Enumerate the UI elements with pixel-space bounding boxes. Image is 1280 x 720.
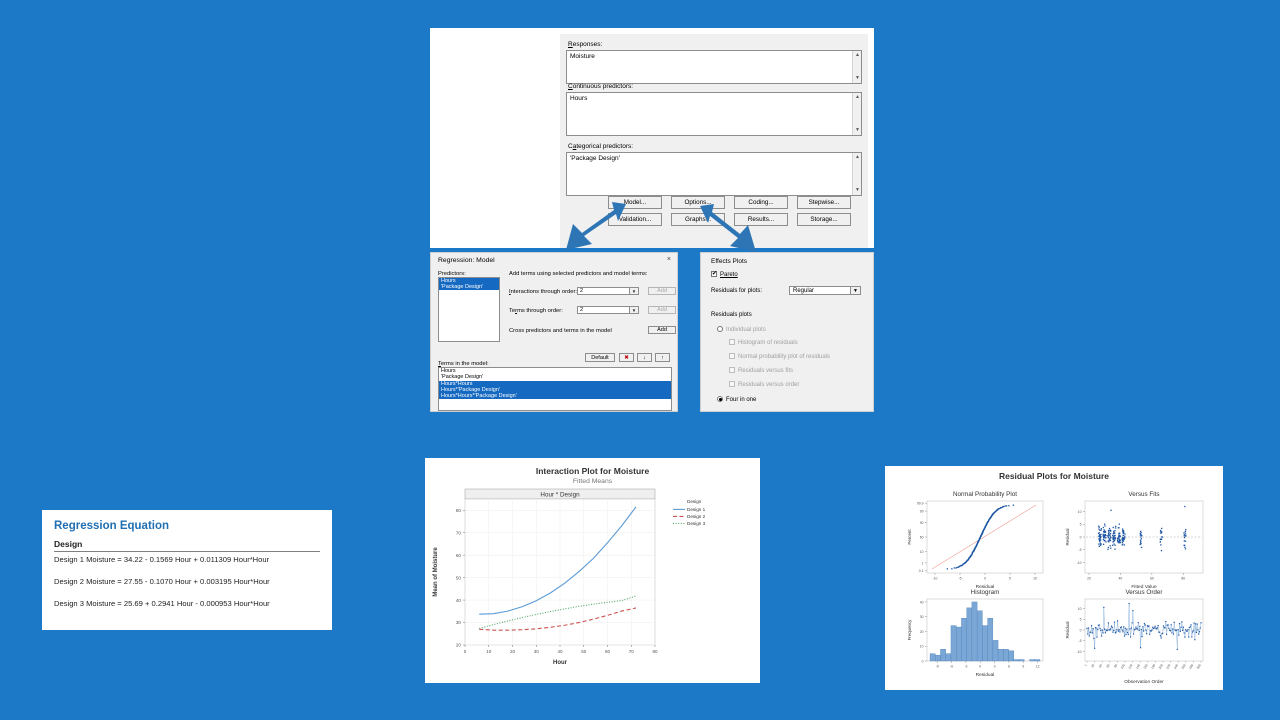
svg-text:Hour * Design: Hour * Design (540, 492, 580, 499)
validation-button[interactable]: Validation... (608, 213, 662, 226)
svg-text:0: 0 (979, 665, 981, 669)
svg-text:50: 50 (920, 535, 924, 539)
terms-order-select[interactable]: 2 ▼ (577, 306, 639, 314)
page-title: Regression Equation (54, 520, 320, 532)
chevron-down-icon[interactable]: ▼ (853, 74, 862, 83)
svg-text:0: 0 (1080, 628, 1082, 632)
effects-plots-title: Effects Plots (711, 258, 747, 265)
graphs-button[interactable]: Graphs... (671, 213, 725, 226)
svg-text:-10: -10 (1077, 561, 1082, 565)
svg-text:Mean of Moisture: Mean of Moisture (433, 547, 439, 597)
equation-design-3: Design 3 Moisture = 25.69 + 0.2941 Hour … (54, 599, 320, 608)
residual-plots-svg: Normal Probability PlotResidualPercent99… (885, 481, 1223, 686)
add-cross-button[interactable]: Add (648, 326, 676, 334)
radio-icon[interactable] (717, 396, 723, 402)
move-up-button[interactable]: ↑ (655, 353, 670, 362)
svg-text:40: 40 (1098, 663, 1103, 668)
regression-equation-card: Regression Equation Design Design 1 Mois… (42, 510, 332, 630)
svg-text:Design 3: Design 3 (687, 521, 706, 526)
svg-text:Design: Design (687, 499, 702, 504)
add-terms-button[interactable]: Add (648, 306, 676, 314)
svg-text:5: 5 (1080, 618, 1082, 622)
continuous-predictors-label: Continuous predictors: (568, 84, 862, 91)
responses-label: Responses: (568, 42, 862, 49)
categorical-predictors-label: Categorical predictors: (568, 144, 862, 151)
svg-text:5: 5 (1080, 523, 1082, 527)
svg-text:280: 280 (1188, 663, 1194, 670)
terms-in-model-listbox[interactable]: Hours 'Package Design' Hours*Hours Hours… (438, 367, 672, 411)
checkbox-icon[interactable] (729, 381, 735, 387)
svg-text:140: 140 (1135, 663, 1141, 670)
interaction-plot-card: Interaction Plot for Moisture Fitted Mea… (425, 458, 760, 683)
histogram-of-residuals-label: Histogram of residuals (738, 340, 798, 346)
results-button[interactable]: Results... (734, 213, 788, 226)
pareto-checkbox[interactable]: Pareto (711, 271, 738, 278)
interaction-plot-title: Interaction Plot for Moisture (425, 466, 760, 476)
svg-text:Observation Order: Observation Order (1124, 679, 1164, 685)
responses-value: Moisture (567, 51, 861, 63)
svg-text:-3: -3 (964, 665, 967, 669)
svg-text:0: 0 (984, 577, 986, 581)
residuals-for-plots-value: Regular (793, 288, 814, 294)
svg-text:10: 10 (920, 645, 924, 649)
residuals-plots-label: Residuals plots (711, 312, 752, 318)
svg-text:300: 300 (1196, 663, 1202, 670)
chevron-down-icon[interactable]: ▼ (853, 126, 862, 135)
chevron-down-icon[interactable]: ▼ (850, 287, 860, 294)
svg-text:40: 40 (557, 649, 563, 654)
svg-text:80: 80 (1181, 577, 1185, 581)
chevron-up-icon[interactable]: ▲ (853, 93, 862, 102)
residuals-versus-order-checkbox[interactable]: Residuals versus order (729, 381, 799, 388)
svg-text:240: 240 (1173, 663, 1179, 670)
individual-plots-radio[interactable]: Individual plots (717, 326, 766, 333)
residuals-versus-order-label: Residuals versus order (738, 382, 799, 388)
svg-text:0: 0 (1080, 535, 1082, 539)
model-dialog-title: Regression: Model (438, 257, 495, 264)
svg-text:60: 60 (605, 649, 611, 654)
four-in-one-label: Four in one (726, 397, 756, 403)
svg-text:220: 220 (1165, 663, 1171, 670)
svg-text:9: 9 (1022, 665, 1024, 669)
svg-text:70: 70 (629, 649, 635, 654)
svg-text:50: 50 (456, 575, 462, 580)
svg-text:-5: -5 (1078, 639, 1081, 643)
svg-text:60: 60 (456, 553, 462, 558)
terms-order-label: Terms through order: (509, 308, 563, 314)
categorical-predictors-value: 'Package Design' (567, 153, 861, 165)
svg-text:-5: -5 (1078, 548, 1081, 552)
storage-button[interactable]: Storage... (797, 213, 851, 226)
residuals-versus-fits-checkbox[interactable]: Residuals versus fits (729, 367, 793, 374)
default-button[interactable]: Default (585, 353, 615, 362)
svg-text:Normal Probability Plot: Normal Probability Plot (953, 491, 1017, 498)
continuous-predictors-listbox[interactable]: Hours ▲ ▼ (566, 92, 862, 136)
terms-order-value: 2 (580, 307, 583, 313)
svg-text:Percent: Percent (907, 529, 912, 545)
svg-text:-10: -10 (1077, 650, 1082, 654)
design-group-header: Design (54, 539, 320, 552)
stepwise-button[interactable]: Stepwise... (797, 196, 851, 209)
residual-plots-title: Residual Plots for Moisture (885, 471, 1223, 481)
normal-probability-plot-checkbox[interactable]: Normal probability plot of residuals (729, 353, 830, 360)
svg-text:6: 6 (1008, 665, 1010, 669)
svg-text:0: 0 (922, 659, 924, 663)
responses-listbox[interactable]: Moisture ▲ ▼ (566, 50, 862, 84)
svg-text:20: 20 (510, 649, 516, 654)
svg-text:90: 90 (920, 521, 924, 525)
svg-text:1: 1 (922, 561, 924, 565)
svg-text:120: 120 (1127, 663, 1133, 670)
checkbox-icon[interactable] (711, 271, 717, 277)
svg-text:80: 80 (456, 508, 462, 513)
add-interactions-button[interactable]: Add (648, 287, 676, 295)
equation-design-2: Design 2 Moisture = 27.55 - 0.1070 Hour … (54, 577, 320, 586)
list-item[interactable]: 'Package Design' (439, 284, 499, 290)
svg-text:260: 260 (1181, 663, 1187, 670)
model-predictors-listbox[interactable]: Hours 'Package Design' (438, 277, 500, 342)
svg-text:100: 100 (1120, 663, 1126, 670)
chevron-down-icon[interactable]: ▼ (853, 186, 862, 195)
svg-text:180: 180 (1150, 663, 1156, 670)
histogram-of-residuals-checkbox[interactable]: Histogram of residuals (729, 339, 798, 346)
pareto-label: Pareto (720, 272, 738, 278)
svg-text:60: 60 (1150, 577, 1154, 581)
close-icon[interactable]: × (667, 256, 671, 263)
svg-text:Residual: Residual (1065, 621, 1070, 638)
svg-text:20: 20 (1087, 577, 1091, 581)
cross-predictors-label: Cross predictors and terms in the model (509, 328, 612, 334)
svg-text:1: 1 (1084, 663, 1088, 667)
regression-model-dialog: Regression: Model × Predictors: Hours 'P… (430, 252, 678, 412)
svg-text:99.9: 99.9 (917, 502, 924, 506)
checkbox-icon[interactable] (729, 353, 735, 359)
svg-text:20: 20 (456, 643, 462, 648)
svg-text:Histogram: Histogram (971, 589, 1000, 596)
svg-text:Versus Order: Versus Order (1125, 589, 1162, 596)
model-hint-text: Add terms using selected predictors and … (509, 271, 648, 277)
individual-plots-label: Individual plots (726, 327, 766, 333)
coding-button[interactable]: Coding... (734, 196, 788, 209)
residuals-for-plots-select[interactable]: Regular ▼ (789, 286, 861, 295)
categorical-predictors-scrollbar[interactable]: ▲ ▼ (852, 153, 861, 195)
model-button[interactable]: Model... (608, 196, 662, 209)
residuals-versus-fits-label: Residuals versus fits (738, 368, 793, 374)
svg-text:30: 30 (534, 649, 540, 654)
svg-text:-6: -6 (950, 665, 953, 669)
svg-text:99: 99 (920, 509, 924, 513)
minitab-regression-dialog: Responses: Moisture ▲ ▼ Continuous predi… (430, 28, 874, 248)
effects-plots-panel: Effects Plots Pareto Residuals for plots… (700, 252, 874, 412)
svg-text:80: 80 (652, 649, 658, 654)
svg-text:Hour: Hour (553, 660, 568, 666)
svg-text:20: 20 (1090, 663, 1095, 668)
svg-text:10: 10 (1033, 577, 1037, 581)
svg-text:5: 5 (1009, 577, 1011, 581)
svg-text:40: 40 (920, 600, 924, 604)
svg-text:12: 12 (1036, 665, 1040, 669)
responses-scrollbar[interactable]: ▲ ▼ (852, 51, 861, 83)
svg-text:10: 10 (1078, 607, 1082, 611)
four-in-one-radio[interactable]: Four in one (717, 396, 756, 403)
svg-text:10: 10 (920, 550, 924, 554)
svg-text:50: 50 (581, 649, 587, 654)
categorical-predictors-listbox[interactable]: 'Package Design' ▲ ▼ (566, 152, 862, 196)
dialog-button-grid: Model... Options... Coding... Stepwise..… (608, 196, 860, 230)
equation-design-1: Design 1 Moisture = 34.22 - 0.1569 Hour … (54, 555, 320, 564)
dialog-button-row-1: Model... Options... Coding... Stepwise..… (608, 196, 860, 209)
dialog-button-row-2: Validation... Graphs... Results... Stora… (608, 213, 860, 226)
normal-probability-plot-label: Normal probability plot of residuals (738, 354, 830, 360)
svg-text:Residual: Residual (1065, 528, 1070, 545)
svg-text:-10: -10 (933, 577, 938, 581)
svg-text:200: 200 (1158, 663, 1164, 670)
checkbox-icon[interactable] (729, 339, 735, 345)
svg-text:0.1: 0.1 (919, 569, 924, 573)
interactions-order-label: Interactions through order: (509, 289, 577, 295)
interactions-order-select[interactable]: 2 ▼ (577, 287, 639, 295)
svg-text:Design 1: Design 1 (687, 507, 706, 512)
svg-text:40: 40 (456, 598, 462, 603)
continuous-predictors-value: Hours (567, 93, 861, 105)
chevron-down-icon[interactable]: ▼ (629, 307, 638, 313)
move-down-button[interactable]: ↓ (637, 353, 652, 362)
dialog-body: Responses: Moisture ▲ ▼ Continuous predi… (560, 34, 868, 248)
svg-text:30: 30 (456, 620, 462, 625)
svg-text:3: 3 (994, 665, 996, 669)
svg-text:10: 10 (1078, 510, 1082, 514)
svg-text:Residual: Residual (976, 672, 995, 678)
checkbox-icon[interactable] (729, 367, 735, 373)
svg-text:0: 0 (464, 649, 467, 654)
interaction-plot-svg: Hour * Design203040506070800102030405060… (425, 485, 760, 680)
svg-text:160: 160 (1143, 663, 1149, 670)
chevron-up-icon[interactable]: ▲ (853, 153, 862, 162)
residuals-for-plots-label: Residuals for plots: (711, 288, 762, 294)
svg-text:-9: -9 (936, 665, 939, 669)
svg-text:60: 60 (1105, 663, 1110, 668)
residual-plots-card: Residual Plots for Moisture Normal Proba… (885, 466, 1223, 690)
delete-term-button[interactable]: ✖ (619, 353, 634, 362)
svg-text:10: 10 (486, 649, 492, 654)
svg-text:70: 70 (456, 530, 462, 535)
svg-text:30: 30 (920, 615, 924, 619)
interactions-order-value: 2 (580, 288, 583, 294)
chevron-down-icon[interactable]: ▼ (629, 288, 638, 294)
svg-text:Design 2: Design 2 (687, 514, 706, 519)
interaction-plot-subtitle: Fitted Means (425, 478, 760, 485)
continuous-predictors-scrollbar[interactable]: ▲ ▼ (852, 93, 861, 135)
svg-text:-5: -5 (958, 577, 961, 581)
svg-text:80: 80 (1113, 663, 1118, 668)
list-item[interactable]: Hours*Hours*'Package Design' (439, 393, 671, 399)
chevron-up-icon[interactable]: ▲ (853, 51, 862, 60)
options-button[interactable]: Options... (671, 196, 725, 209)
svg-text:20: 20 (920, 630, 924, 634)
svg-text:Versus Fits: Versus Fits (1128, 491, 1159, 498)
radio-icon[interactable] (717, 326, 723, 332)
svg-text:40: 40 (1119, 577, 1123, 581)
svg-text:Frequency: Frequency (907, 619, 912, 641)
